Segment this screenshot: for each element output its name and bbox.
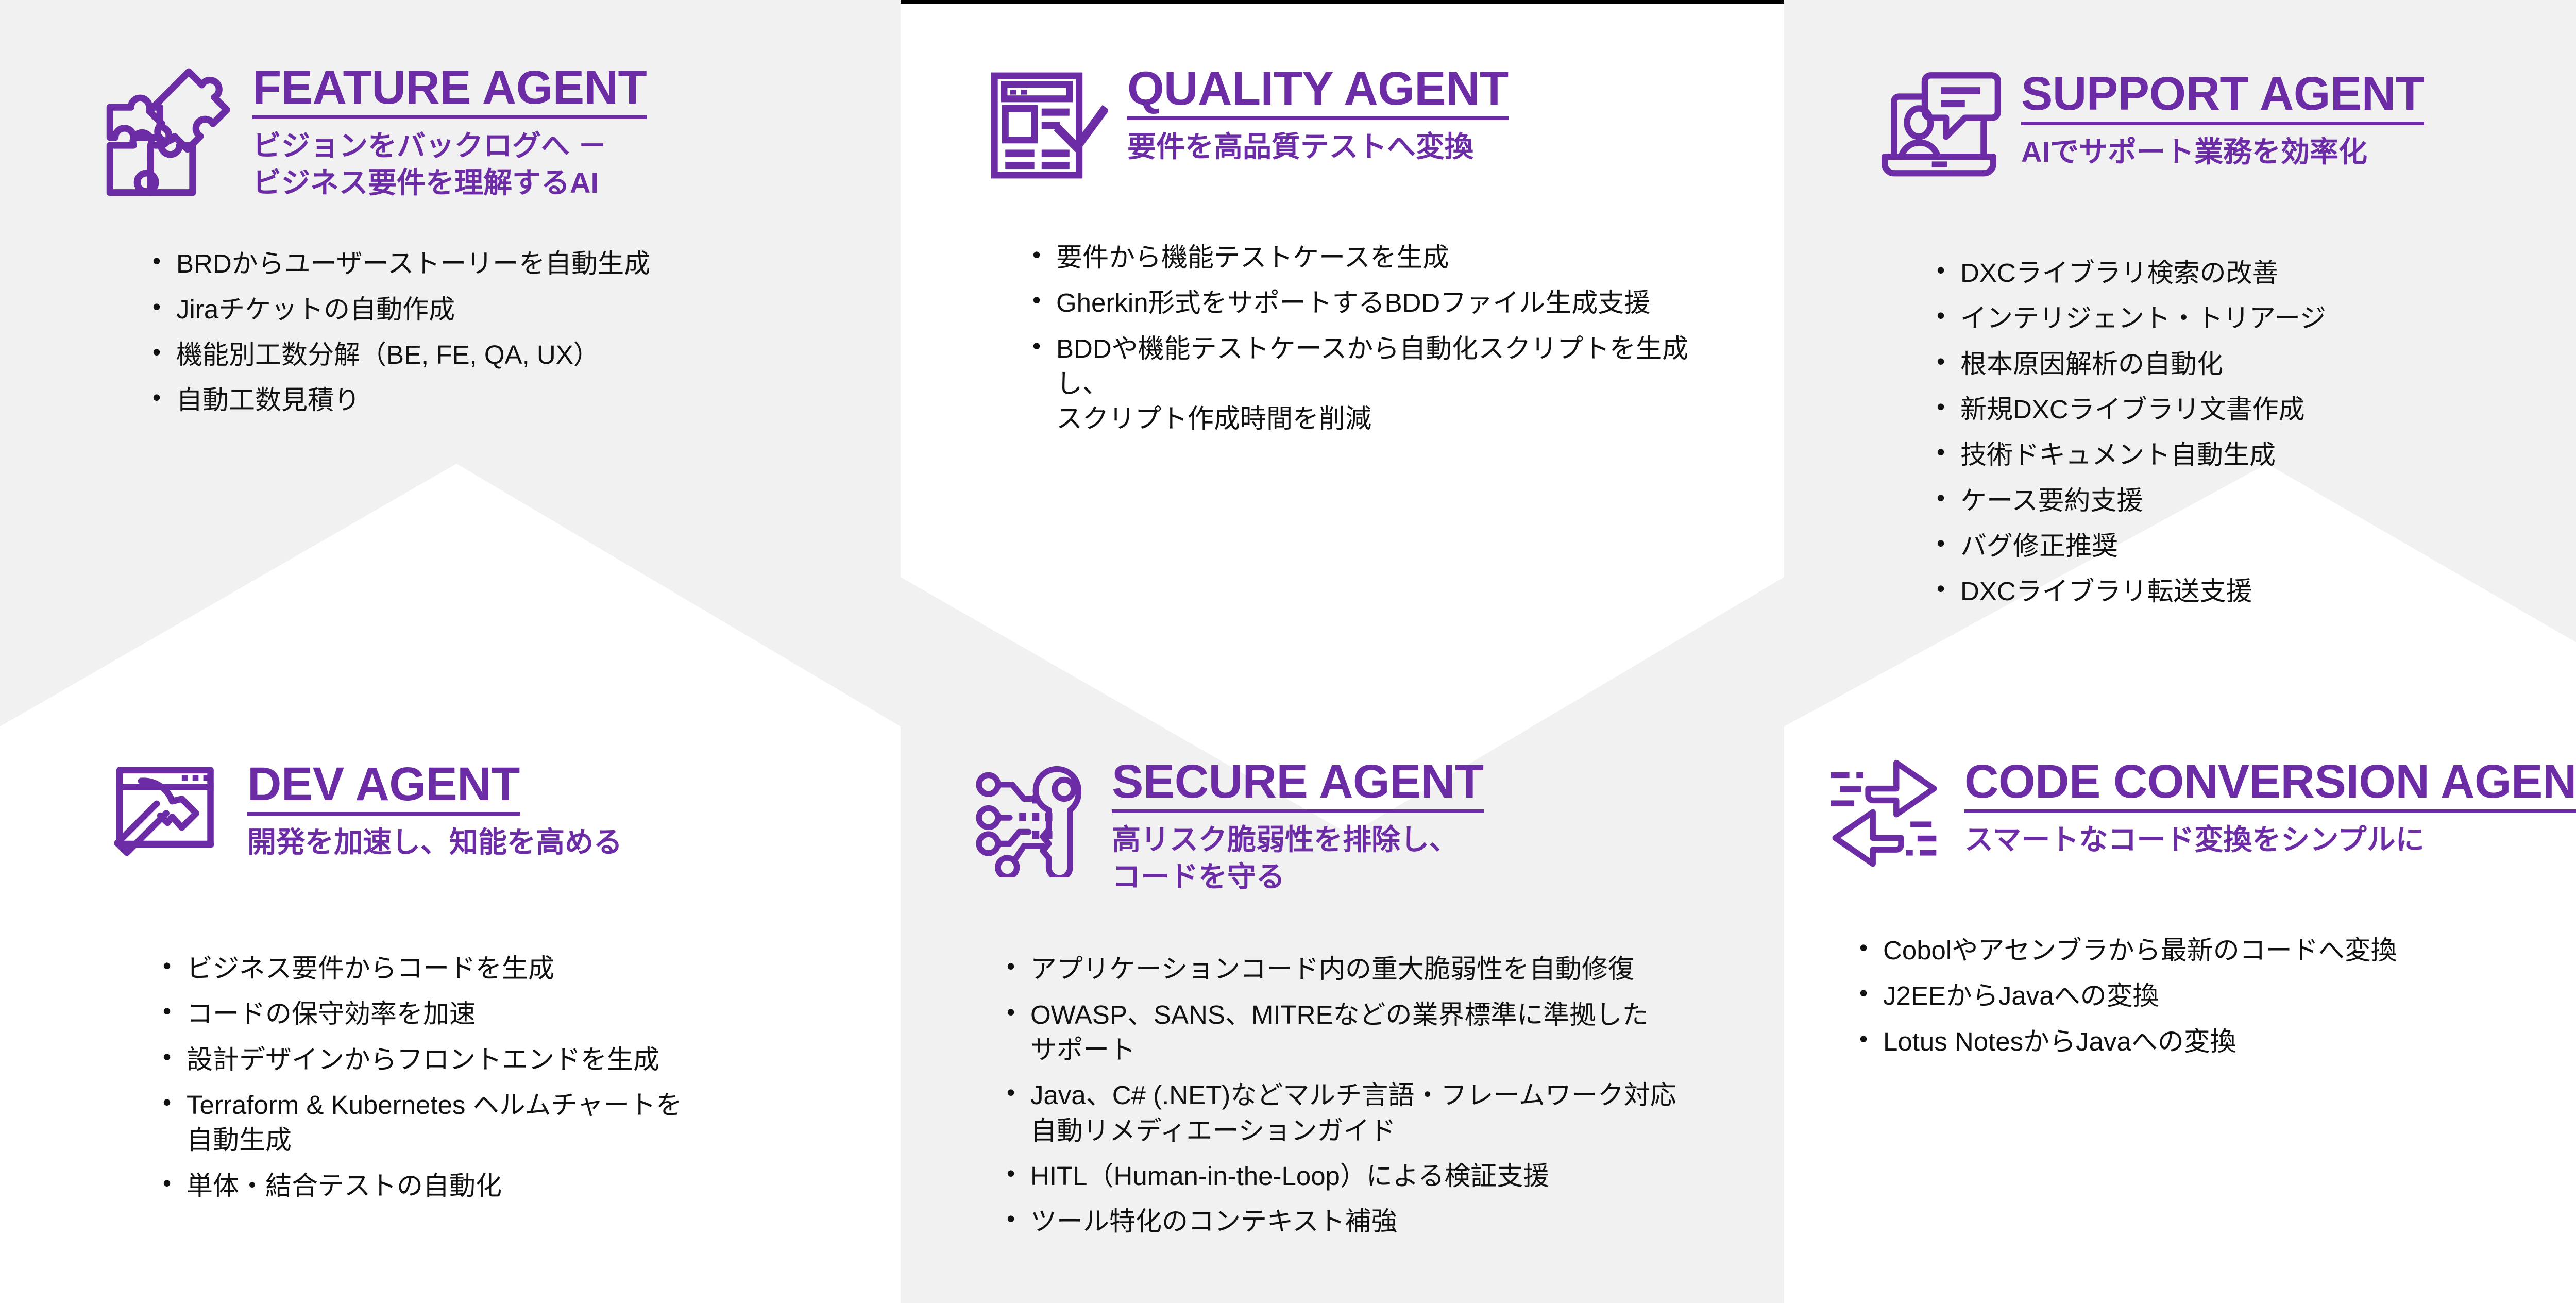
list-item: バグ修正推奨	[1934, 529, 2576, 564]
list-item: ケース要約支援	[1934, 483, 2576, 518]
card-header: FEATURE AGENT ビジョンをバックログへ － ビジネス要件を理解するA…	[98, 61, 859, 201]
document-checkmark-icon	[983, 62, 1112, 189]
list-item: 技術ドキュメント自動生成	[1934, 437, 2576, 472]
list-item: 設計デザインからフロントエンドを生成	[160, 1042, 859, 1077]
list-item: DXCライブラリ検索の改善	[1934, 256, 2576, 291]
agent-card-code-conversion: CODE CONVERSION AGENT スマートなコード変換をシンプルに C…	[1784, 726, 2576, 1303]
agent-card-dev: DEV AGENT 開発を加速し、知能を高める ビジネス要件からコードを生成 コ…	[0, 726, 901, 1303]
list-item: BDDや機能テストケースから自動化スクリプトを生成し、 スクリプト作成時間を削減	[1029, 331, 1727, 437]
list-item: Cobolやアセンブラから最新のコードへ変換	[1856, 933, 2576, 968]
list-item: ツール特化のコンテキスト補強	[1004, 1204, 1727, 1239]
card-titles: FEATURE AGENT ビジョンをバックログへ － ビジネス要件を理解するA…	[252, 61, 859, 201]
card-titles: DEV AGENT 開発を加速し、知能を高める	[247, 757, 859, 861]
list-item: BRDからユーザーストーリーを自動生成	[149, 246, 859, 281]
list-item: 根本原因解析の自動化	[1934, 347, 2576, 382]
agent-subtitle: AIでサポート業務を効率化	[2021, 133, 2576, 171]
feature-list: DXCライブラリ検索の改善 インテリジェント・トリアージ 根本原因解析の自動化 …	[1877, 256, 2576, 610]
card-header: CODE CONVERSION AGENT スマートなコード変換をシンプルに	[1820, 755, 2576, 882]
card-titles: QUALITY AGENT 要件を高品質テストへ変換	[1127, 62, 1727, 165]
agent-subtitle: 要件を高品質テストへ変換	[1127, 128, 1727, 165]
list-item: Lotus NotesからJavaへの変換	[1856, 1024, 2576, 1059]
agent-title: FEATURE AGENT	[252, 64, 647, 119]
agent-subtitle: 高リスク脆弱性を排除し、 コードを守る	[1112, 821, 1727, 895]
agent-card-grid: FEATURE AGENT ビジョンをバックログへ － ビジネス要件を理解するA…	[0, 0, 2576, 1303]
puzzle-pieces-icon	[98, 61, 237, 198]
agent-subtitle: ビジョンをバックログへ － ビジネス要件を理解するAI	[252, 127, 859, 201]
feature-list: ビジネス要件からコードを生成 コードの保守効率を加速 設計デザインからフロントエ…	[103, 951, 859, 1204]
card-header: SECURE AGENT 高リスク脆弱性を排除し、 コードを守る	[968, 755, 1727, 895]
list-item: Terraform & Kubernetes ヘルムチャートを 自動生成	[160, 1088, 859, 1158]
top-divider-rule	[901, 0, 1784, 4]
card-titles: SECURE AGENT 高リスク脆弱性を排除し、 コードを守る	[1112, 755, 1727, 895]
list-item: ビジネス要件からコードを生成	[160, 951, 859, 986]
feature-list: 要件から機能テストケースを生成 Gherkin形式をサポートするBDDファイル生…	[983, 240, 1727, 437]
agent-subtitle: スマートなコード変換をシンプルに	[1964, 821, 2576, 858]
card-header: SUPPORT AGENT AIでサポート業務を効率化	[1877, 67, 2576, 194]
agent-card-quality: QUALITY AGENT 要件を高品質テストへ変換 要件から機能テストケースを…	[901, 0, 1784, 726]
list-item: 要件から機能テストケースを生成	[1029, 240, 1727, 275]
agent-title: QUALITY AGENT	[1127, 65, 1509, 120]
agent-card-support: SUPPORT AGENT AIでサポート業務を効率化 DXCライブラリ検索の改…	[1784, 0, 2576, 726]
agent-title: DEV AGENT	[247, 760, 520, 816]
list-item: 自動工数見積り	[149, 383, 859, 418]
list-item: 単体・結合テストの自動化	[160, 1169, 859, 1204]
bidirectional-arrows-code-icon	[1820, 755, 1949, 882]
list-item: J2EEからJavaへの変換	[1856, 978, 2576, 1013]
feature-list: アプリケーションコード内の重大脆弱性を自動修復 OWASP、SANS、MITRE…	[968, 952, 1727, 1239]
list-item: インテリジェント・トリアージ	[1934, 301, 2576, 336]
agent-title: CODE CONVERSION AGENT	[1964, 758, 2576, 813]
list-item: アプリケーションコード内の重大脆弱性を自動修復	[1004, 952, 1727, 987]
slide-canvas: FEATURE AGENT ビジョンをバックログへ － ビジネス要件を理解するA…	[0, 0, 2576, 1303]
list-item: 機能別工数分解（BE, FE, QA, UX）	[149, 337, 859, 373]
hammer-browser-icon	[103, 757, 232, 884]
list-item: HITL（Human-in-the-Loop）による検証支援	[1004, 1159, 1727, 1194]
list-item: OWASP、SANS、MITREなどの業界標準に準拠した サポート	[1004, 997, 1727, 1068]
feature-list: Cobolやアセンブラから最新のコードへ変換 J2EEからJavaへの変換 Lo…	[1820, 933, 2576, 1059]
card-titles: SUPPORT AGENT AIでサポート業務を効率化	[2021, 67, 2576, 171]
list-item: 新規DXCライブラリ文書作成	[1934, 392, 2576, 427]
feature-list: BRDからユーザーストーリーを自動生成 Jiraチケットの自動作成 機能別工数分…	[98, 246, 859, 418]
card-header: DEV AGENT 開発を加速し、知能を高める	[103, 757, 859, 884]
list-item: Jiraチケットの自動作成	[149, 292, 859, 327]
agent-title: SECURE AGENT	[1112, 758, 1484, 813]
card-header: QUALITY AGENT 要件を高品質テストへ変換	[983, 62, 1727, 189]
agent-card-secure: SECURE AGENT 高リスク脆弱性を排除し、 コードを守る アプリケーショ…	[901, 726, 1784, 1303]
key-circuit-icon	[968, 755, 1096, 882]
agent-subtitle: 開発を加速し、知能を高める	[247, 824, 859, 861]
laptop-chat-person-icon	[1877, 67, 2006, 194]
list-item: コードの保守効率を加速	[160, 996, 859, 1031]
agent-card-feature: FEATURE AGENT ビジョンをバックログへ － ビジネス要件を理解するA…	[0, 0, 901, 726]
list-item: DXCライブラリ転送支援	[1934, 574, 2576, 609]
agent-title: SUPPORT AGENT	[2021, 70, 2424, 125]
card-titles: CODE CONVERSION AGENT スマートなコード変換をシンプルに	[1964, 755, 2576, 858]
list-item: Gherkin形式をサポートするBDDファイル生成支援	[1029, 285, 1727, 320]
list-item: Java、C# (.NET)などマルチ言語・フレームワーク対応 自動リメディエー…	[1004, 1078, 1727, 1148]
